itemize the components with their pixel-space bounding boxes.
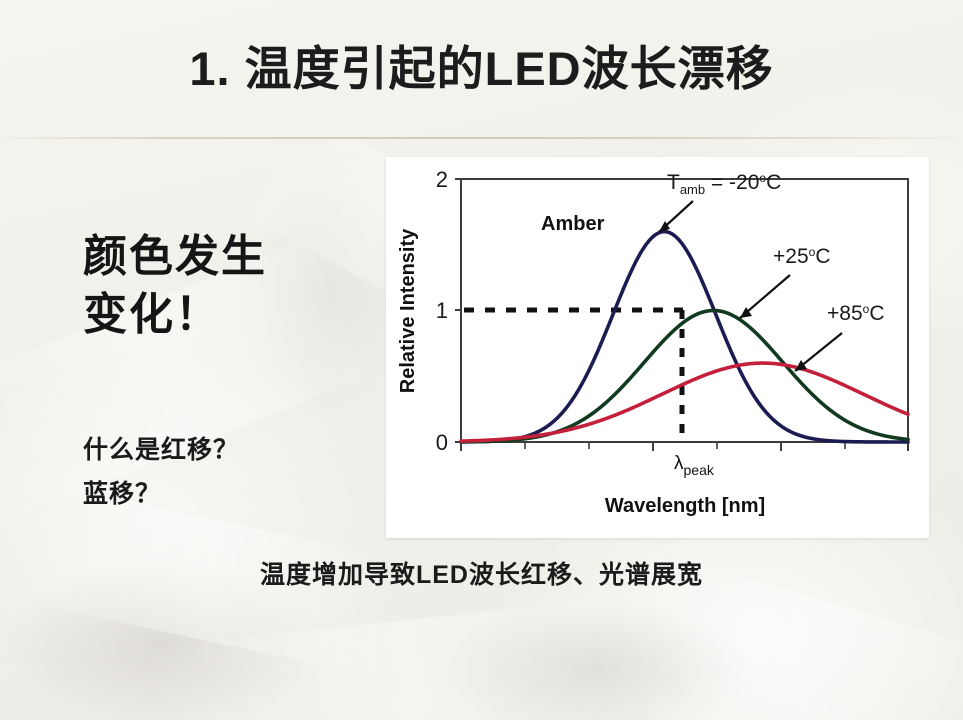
slide-title: 1. 温度引起的LED波长漂移 xyxy=(0,44,963,93)
background-shadow xyxy=(430,600,760,720)
slide-caption: 温度增加导致LED波长红移、光谱展宽 xyxy=(0,555,963,591)
peak-marker-label: λpeak xyxy=(674,453,715,478)
question-line-2: 蓝移？ xyxy=(83,472,239,516)
amber-series-label: Amber xyxy=(541,213,605,235)
background-streak xyxy=(145,593,676,720)
chart-panel: 2 1 0 Relative Intensity xyxy=(386,157,929,538)
y-axis: 2 1 0 Relative Intensity xyxy=(397,167,461,455)
annotation-plus85-label: +85oC xyxy=(827,302,884,325)
headline-line-1: 颜色发生 xyxy=(83,228,267,286)
slide-root: 1. 温度引起的LED波长漂移 颜色发生 变化！ 什么是红移？ 蓝移？ 2 1 … xyxy=(0,0,963,720)
y-tick-label-1: 1 xyxy=(436,298,448,323)
title-divider xyxy=(0,137,963,139)
headline-line-2: 变化！ xyxy=(83,286,267,344)
y-axis-label: Relative Intensity xyxy=(397,228,419,393)
annotation-plus25-label: +25oC xyxy=(773,245,830,268)
question-text: 什么是红移？ 蓝移？ xyxy=(83,428,239,516)
y-tick-label-2: 2 xyxy=(436,167,448,192)
headline-text: 颜色发生 变化！ xyxy=(83,228,267,344)
x-axis-ticks xyxy=(461,442,908,451)
y-tick-label-0: 0 xyxy=(436,430,448,455)
question-line-1: 什么是红移？ xyxy=(83,428,239,472)
spectrum-chart: 2 1 0 Relative Intensity xyxy=(386,157,929,538)
x-axis-label: Wavelength [nm] xyxy=(605,495,765,517)
